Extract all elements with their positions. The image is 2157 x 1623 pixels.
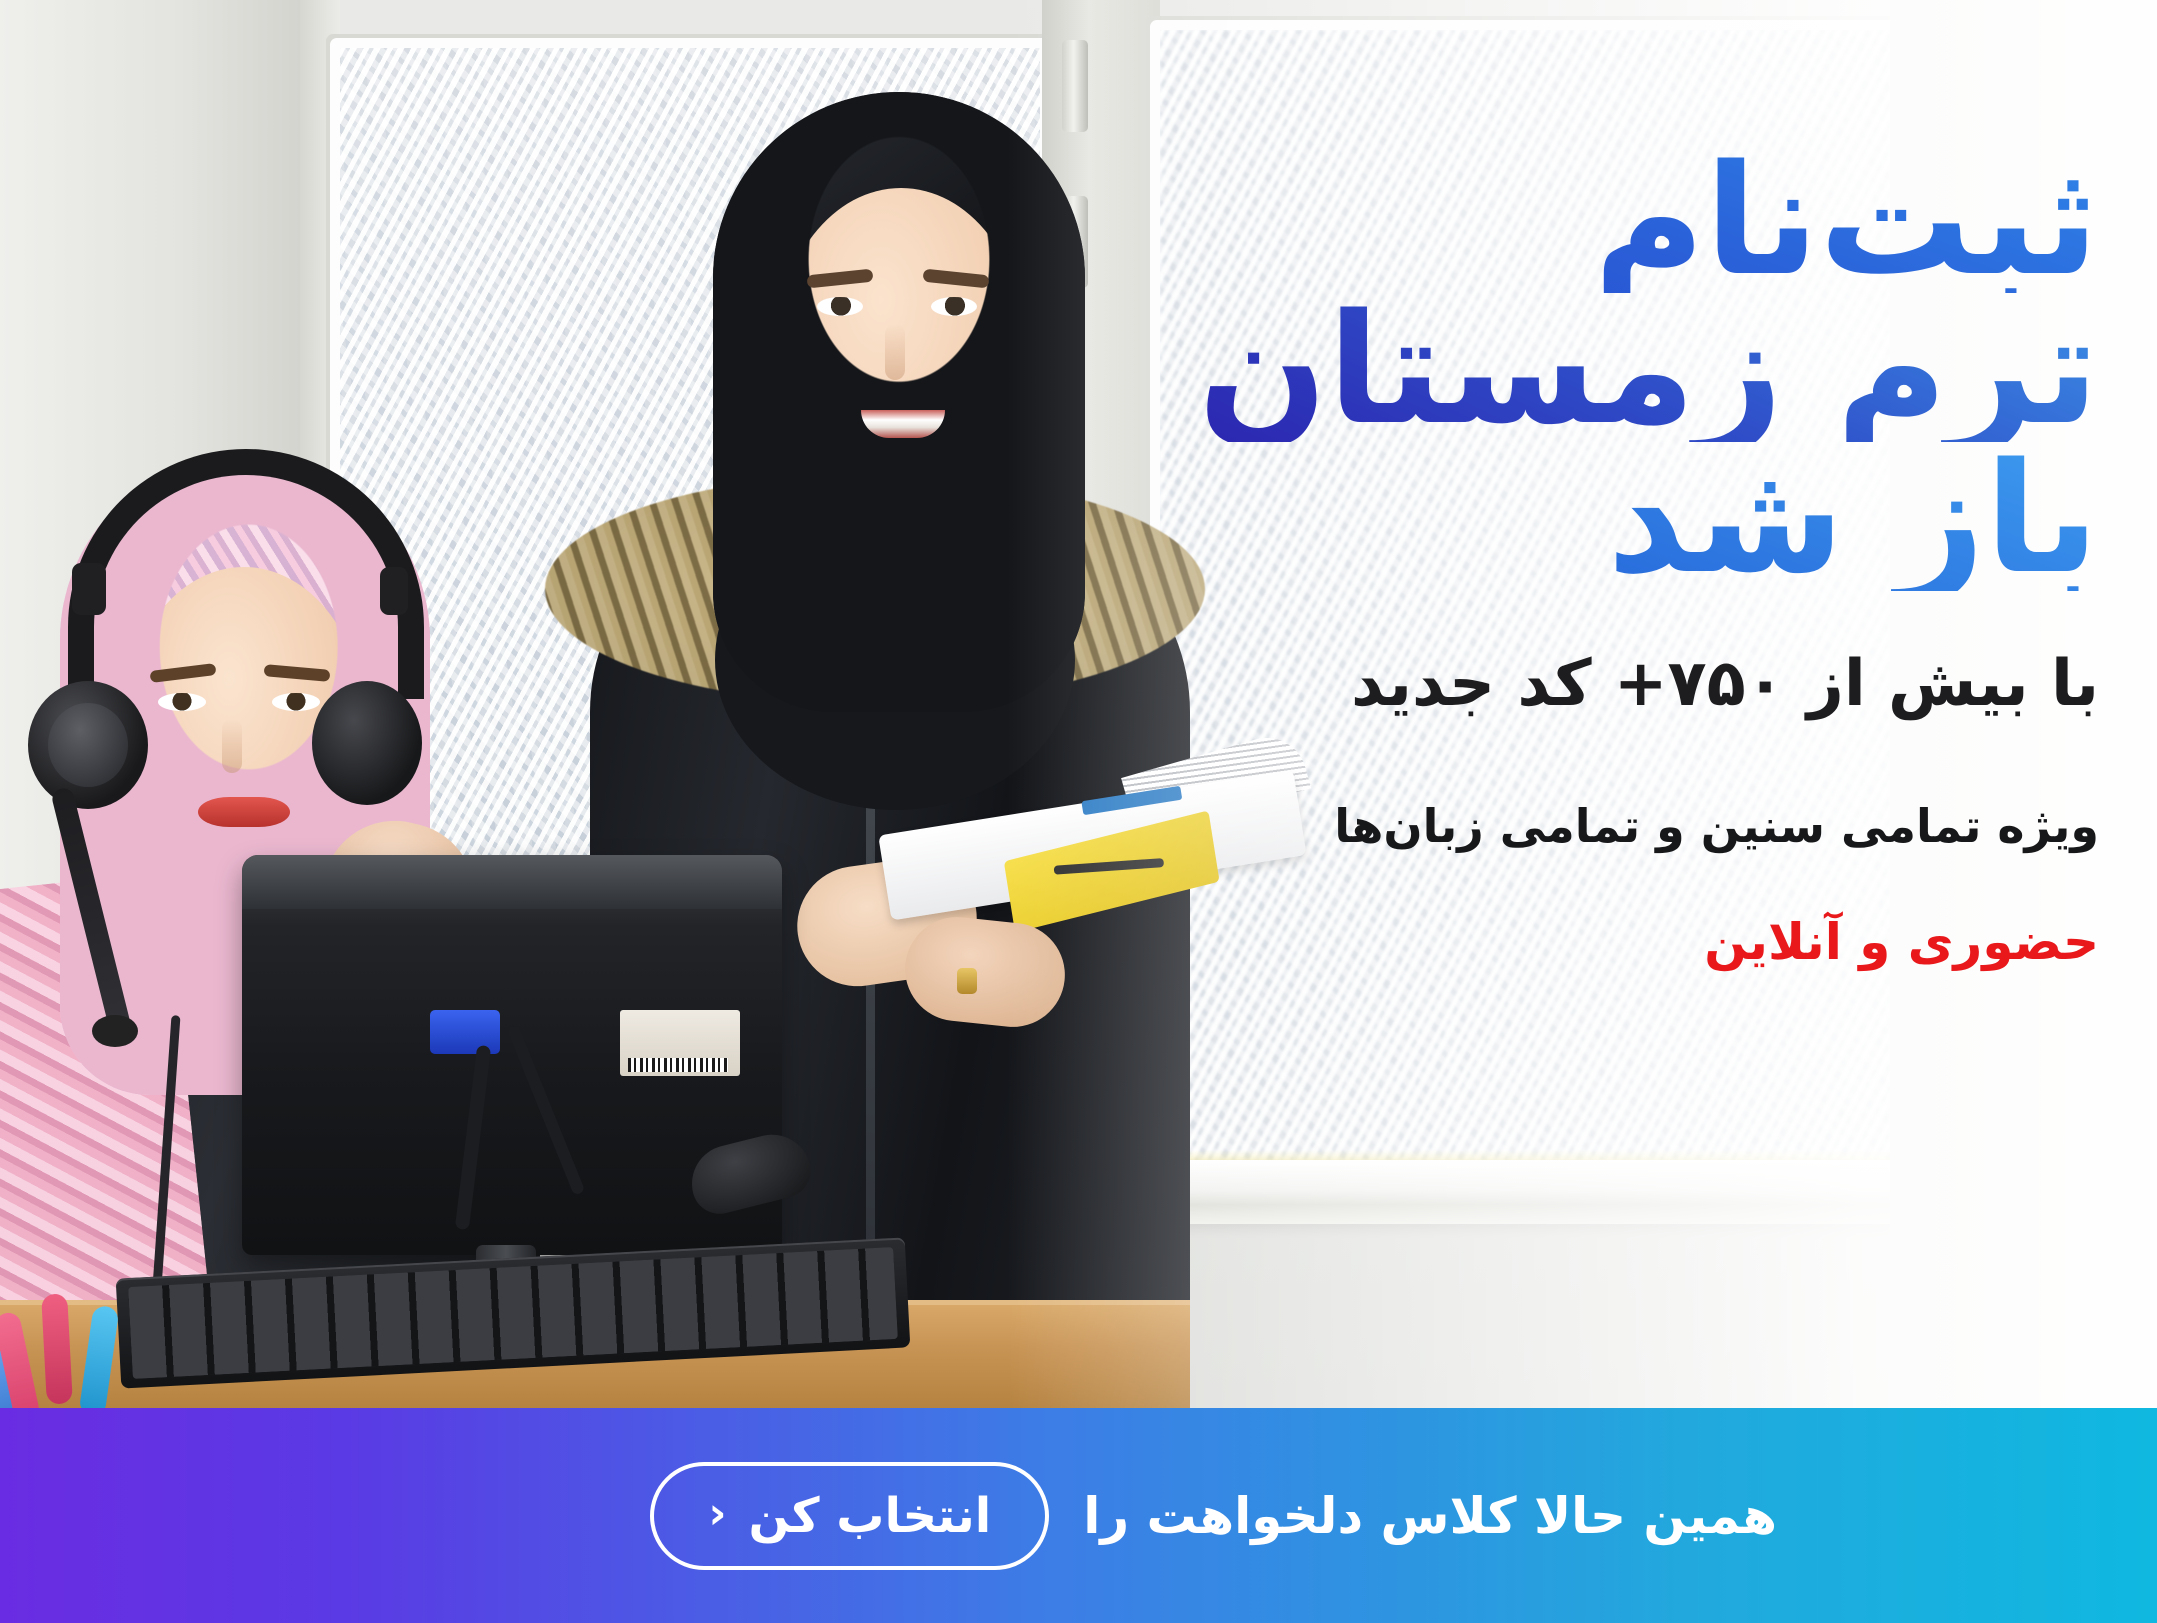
headline-line-1: ثبت‌نام — [1019, 150, 2099, 293]
vga-connector — [430, 1010, 500, 1054]
cta-bar: همین حالا کلاس دلخواهت را انتخاب کن ‹ — [0, 1408, 2157, 1623]
lips — [198, 797, 290, 827]
headline-line-2: ترم زمستان — [1019, 299, 2099, 442]
headset-earcup-left — [28, 681, 148, 809]
subhead-delivery-modes: حضوری و آنلاین — [1019, 913, 2099, 971]
nose — [222, 719, 242, 773]
window-sill-right — [1160, 1160, 1890, 1224]
eye-left — [817, 297, 863, 316]
headset-adjuster-right — [380, 567, 408, 615]
gold-ring — [957, 968, 977, 994]
pen-red — [41, 1293, 73, 1404]
cta-content: همین حالا کلاس دلخواهت را انتخاب کن ‹ — [650, 1462, 1777, 1570]
monitor-top-bezel — [242, 855, 782, 909]
choose-class-button[interactable]: انتخاب کن ‹ — [650, 1462, 1049, 1570]
headset-headband — [68, 449, 424, 699]
copy-block: ثبت‌نام ترم زمستان باز شد با بیش از ۷۵۰+… — [1019, 150, 2099, 971]
pen-cyan — [78, 1305, 119, 1408]
choose-class-button-label: انتخاب کن — [748, 1488, 991, 1544]
cta-message: همین حالا کلاس دلخواهت را — [1083, 1487, 1777, 1545]
subhead-new-codes: با بیش از ۷۵۰+ کد جدید — [1019, 647, 2099, 721]
promo-banner: ثبت‌نام ترم زمستان باز شد با بیش از ۷۵۰+… — [0, 0, 2157, 1623]
headline: ثبت‌نام ترم زمستان باز شد — [1019, 150, 2099, 591]
headline-line-3: باز شد — [1019, 448, 2099, 591]
chevron-left-icon: ‹ — [708, 1492, 726, 1536]
headset-adjuster-left — [72, 563, 106, 615]
subhead-audience: ویژه تمامی سنین و تمامی زبان‌ها — [1019, 799, 2099, 853]
barcode — [628, 1058, 728, 1072]
nose — [885, 324, 905, 380]
headset-microphone-tip — [92, 1015, 138, 1047]
pen-holder-group — [0, 1290, 160, 1408]
eye-right — [931, 297, 977, 316]
headset-earcup-right — [312, 681, 422, 805]
